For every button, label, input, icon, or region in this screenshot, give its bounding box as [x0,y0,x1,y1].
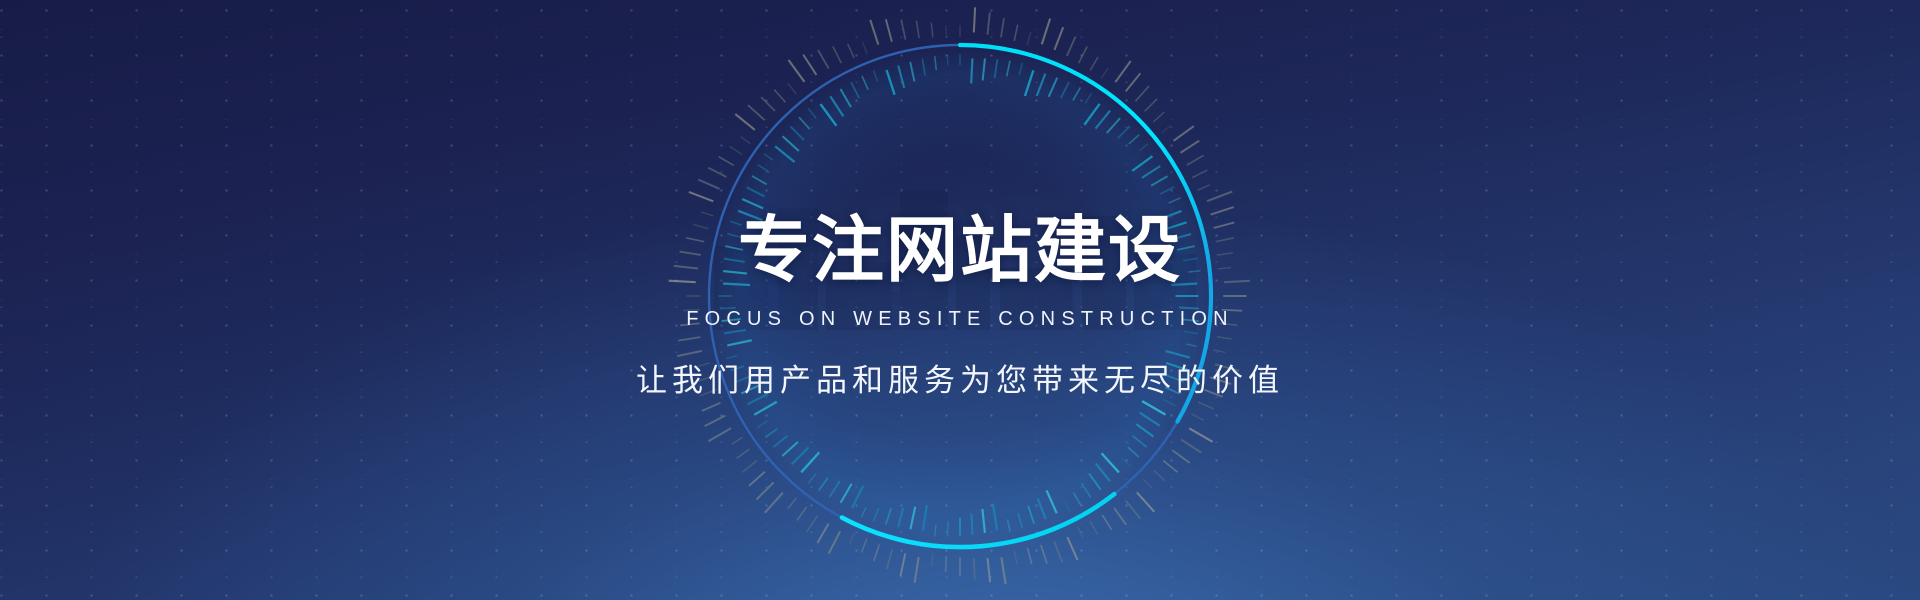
page-title: 专注网站建设 [0,214,1920,286]
hero-banner: 专注网站建设 FOCUS ON WEBSITE CONSTRUCTION 让我们… [0,0,1920,600]
cyan-arc-bottom [842,494,1114,547]
tagline: 让我们用产品和服务为您带来无尽的价值 [0,355,1920,400]
hero-copy: 专注网站建设 FOCUS ON WEBSITE CONSTRUCTION 让我们… [0,214,1920,400]
subtitle-english: FOCUS ON WEBSITE CONSTRUCTION [0,308,1920,331]
